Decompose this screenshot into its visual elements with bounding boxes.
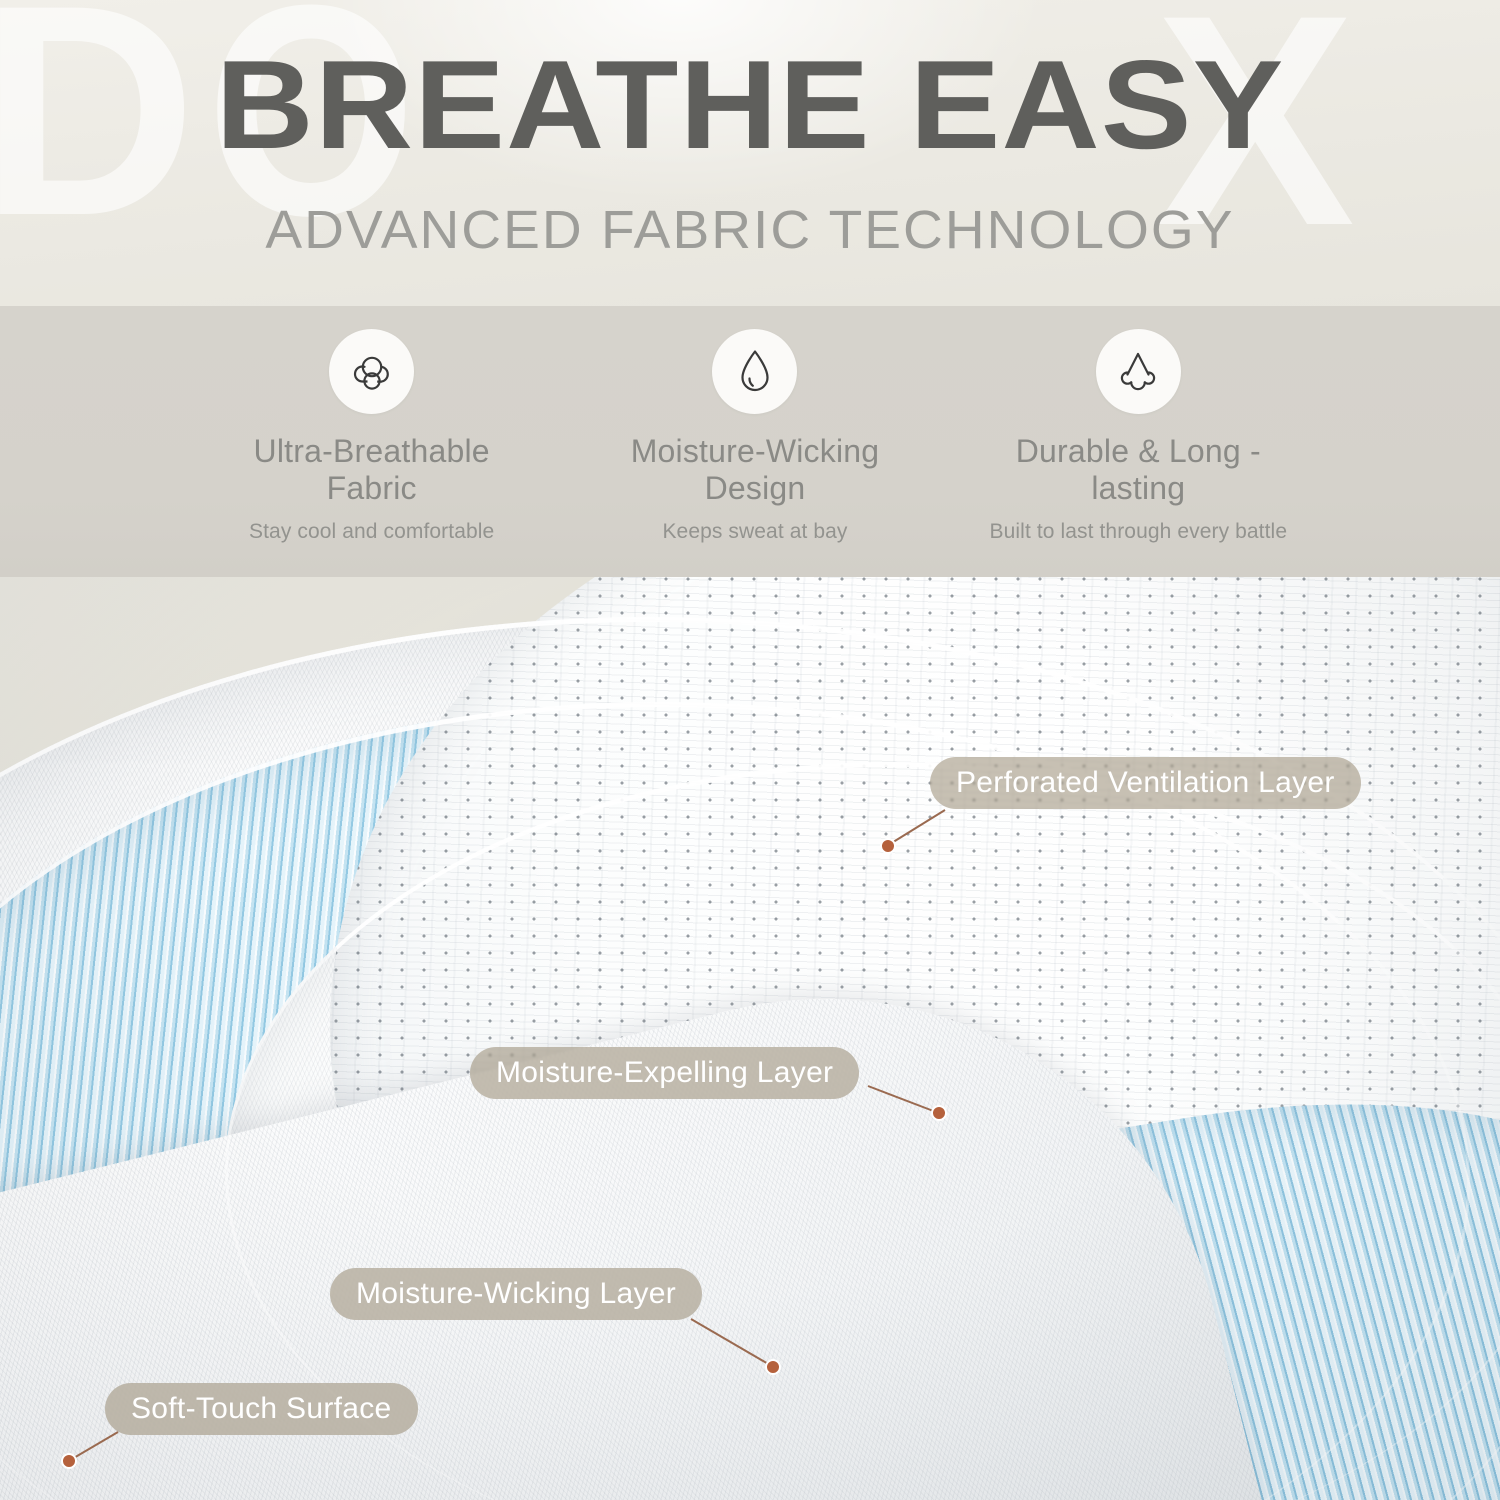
feature-subtitle: Keeps sweat at bay [662,519,847,544]
callout-label: Moisture-Wicking Layer [330,1268,702,1320]
callout-label: Moisture-Expelling Layer [470,1047,859,1099]
product-photo [0,577,1500,1500]
feature-title: Moisture-Wicking Design [590,433,920,507]
feature-band: Ultra-Breathable Fabric Stay cool and co… [0,306,1500,577]
feature-subtitle: Built to last through every battle [990,519,1288,544]
water-drop-icon [712,329,797,414]
fabric-coil [0,577,1500,1500]
callout-label: Soft-Touch Surface [105,1383,418,1435]
feature-item-breathable: Ultra-Breathable Fabric Stay cool and co… [180,306,563,577]
feature-title: Ultra-Breathable Fabric [212,433,532,507]
header-banner: D O X BREATHE EASY ADVANCED FABRIC TECHN… [0,0,1500,306]
feature-item-durable: Durable & Long -lasting Built to last th… [947,306,1330,577]
callout-label: Perforated Ventilation Layer [930,757,1361,809]
page-subtitle: ADVANCED FABRIC TECHNOLOGY [0,203,1500,257]
droplet-cloud-icon [1096,329,1181,414]
cloud-icon [329,329,414,414]
page-title: BREATHE EASY [0,42,1500,168]
feature-title: Durable & Long -lasting [988,433,1288,507]
product-infographic: D O X BREATHE EASY ADVANCED FABRIC TECHN… [0,0,1500,1500]
feature-subtitle: Stay cool and comfortable [249,519,494,544]
feature-item-moisture-wicking: Moisture-Wicking Design Keeps sweat at b… [563,306,946,577]
